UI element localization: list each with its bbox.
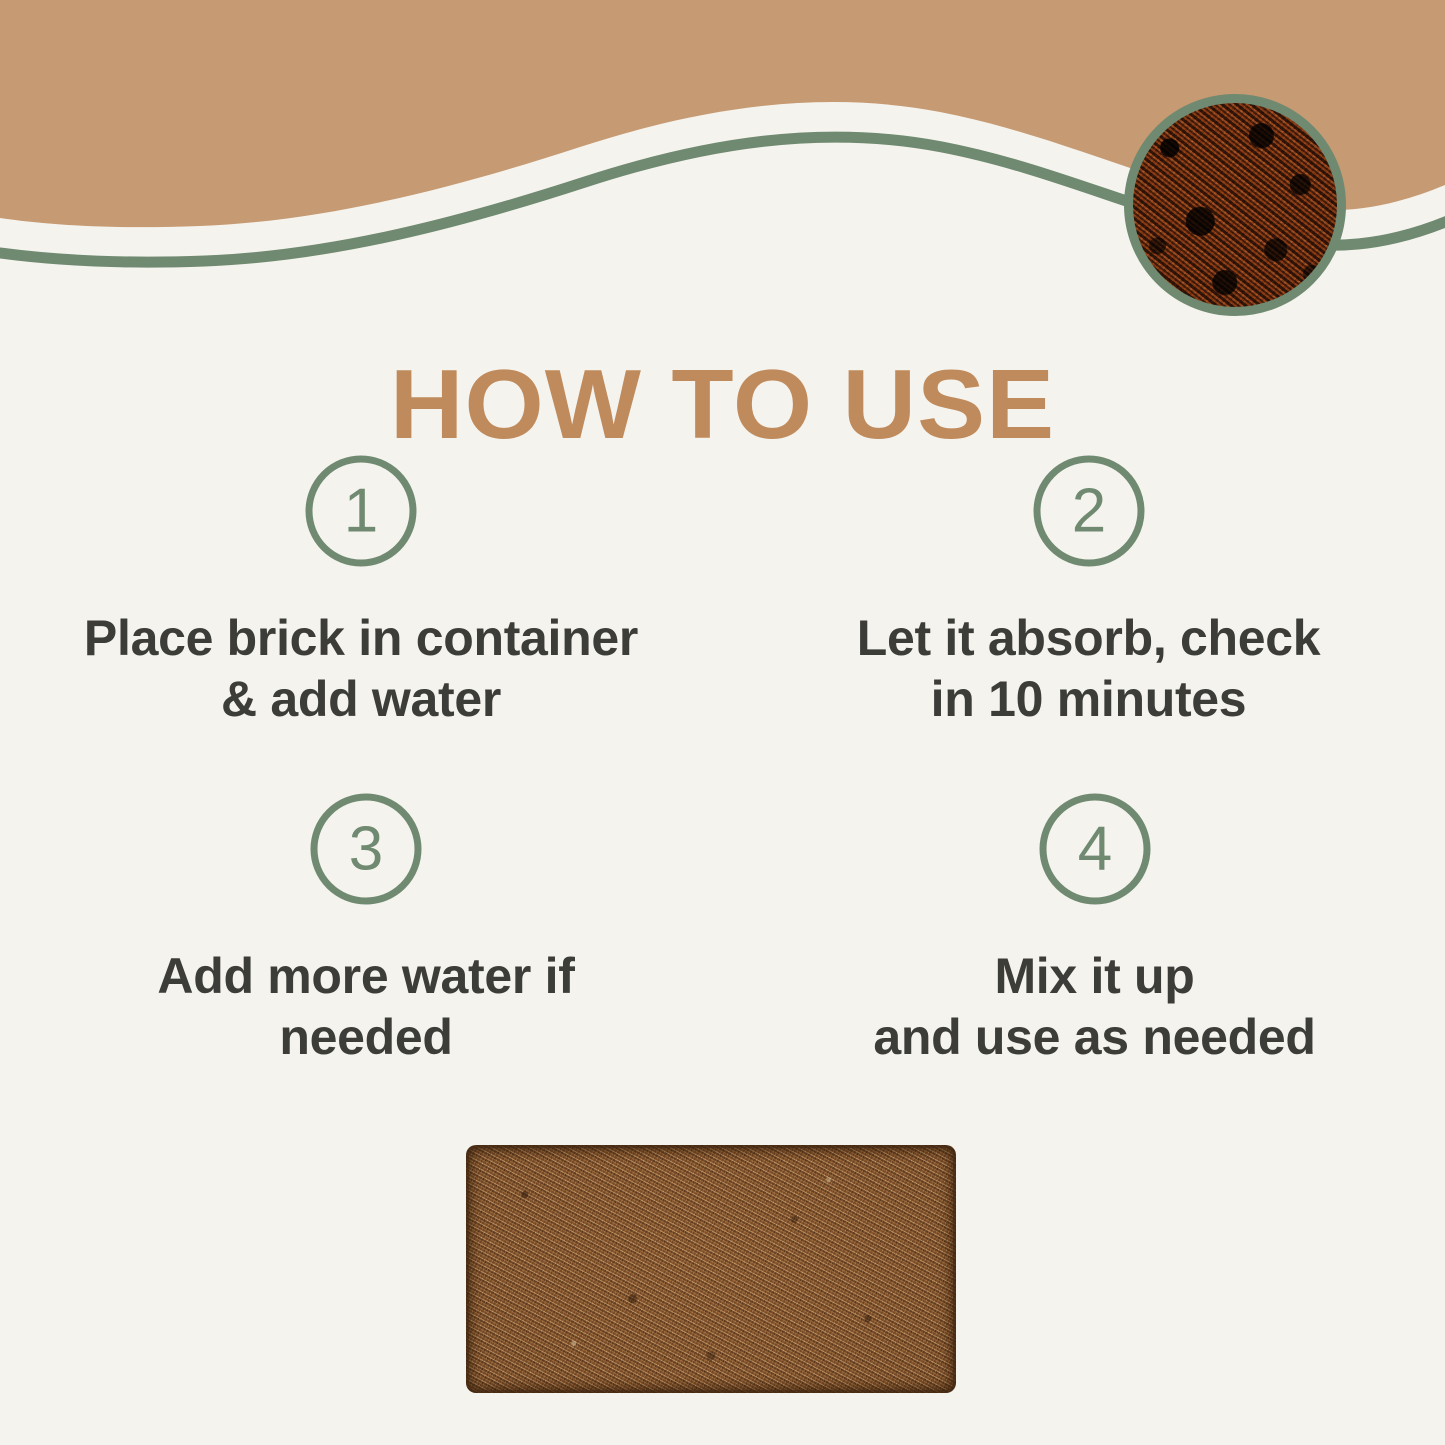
step-number-label-1: 1 — [344, 477, 378, 546]
step-caption-2: Let it absorb, check in 10 minutes — [857, 608, 1321, 730]
step-item-3: 3 Add more water if needed — [0, 790, 722, 1128]
step-number-label-2: 2 — [1071, 477, 1105, 546]
step-caption-3: Add more water if needed — [157, 946, 574, 1068]
step-number-label-3: 3 — [349, 815, 383, 884]
step-number-badge-1: 1 — [302, 452, 420, 570]
circle-outline-icon: 2 — [1030, 452, 1148, 570]
coco-coir-brick-image — [466, 1145, 956, 1393]
step-number-badge-4: 4 — [1036, 790, 1154, 908]
steps-grid: 1 Place brick in container & add water 2… — [0, 452, 1445, 1128]
step-item-2: 2 Let it absorb, check in 10 minutes — [722, 452, 1445, 790]
step-item-1: 1 Place brick in container & add water — [0, 452, 722, 790]
page-title: HOW TO USE — [0, 351, 1445, 459]
step-number-badge-3: 3 — [307, 790, 425, 908]
step-caption-4: Mix it up and use as needed — [873, 946, 1315, 1068]
step-caption-1: Place brick in container & add water — [84, 608, 638, 730]
step-item-4: 4 Mix it up and use as needed — [722, 790, 1445, 1128]
circle-outline-icon: 4 — [1036, 790, 1154, 908]
circle-outline-icon: 1 — [302, 452, 420, 570]
circle-outline-icon: 3 — [307, 790, 425, 908]
how-to-use-infographic: HOW TO USE 1 Place brick in container & … — [0, 0, 1445, 1445]
coir-texture-circle-image — [1124, 94, 1346, 316]
step-number-badge-2: 2 — [1030, 452, 1148, 570]
step-number-label-4: 4 — [1077, 815, 1111, 884]
